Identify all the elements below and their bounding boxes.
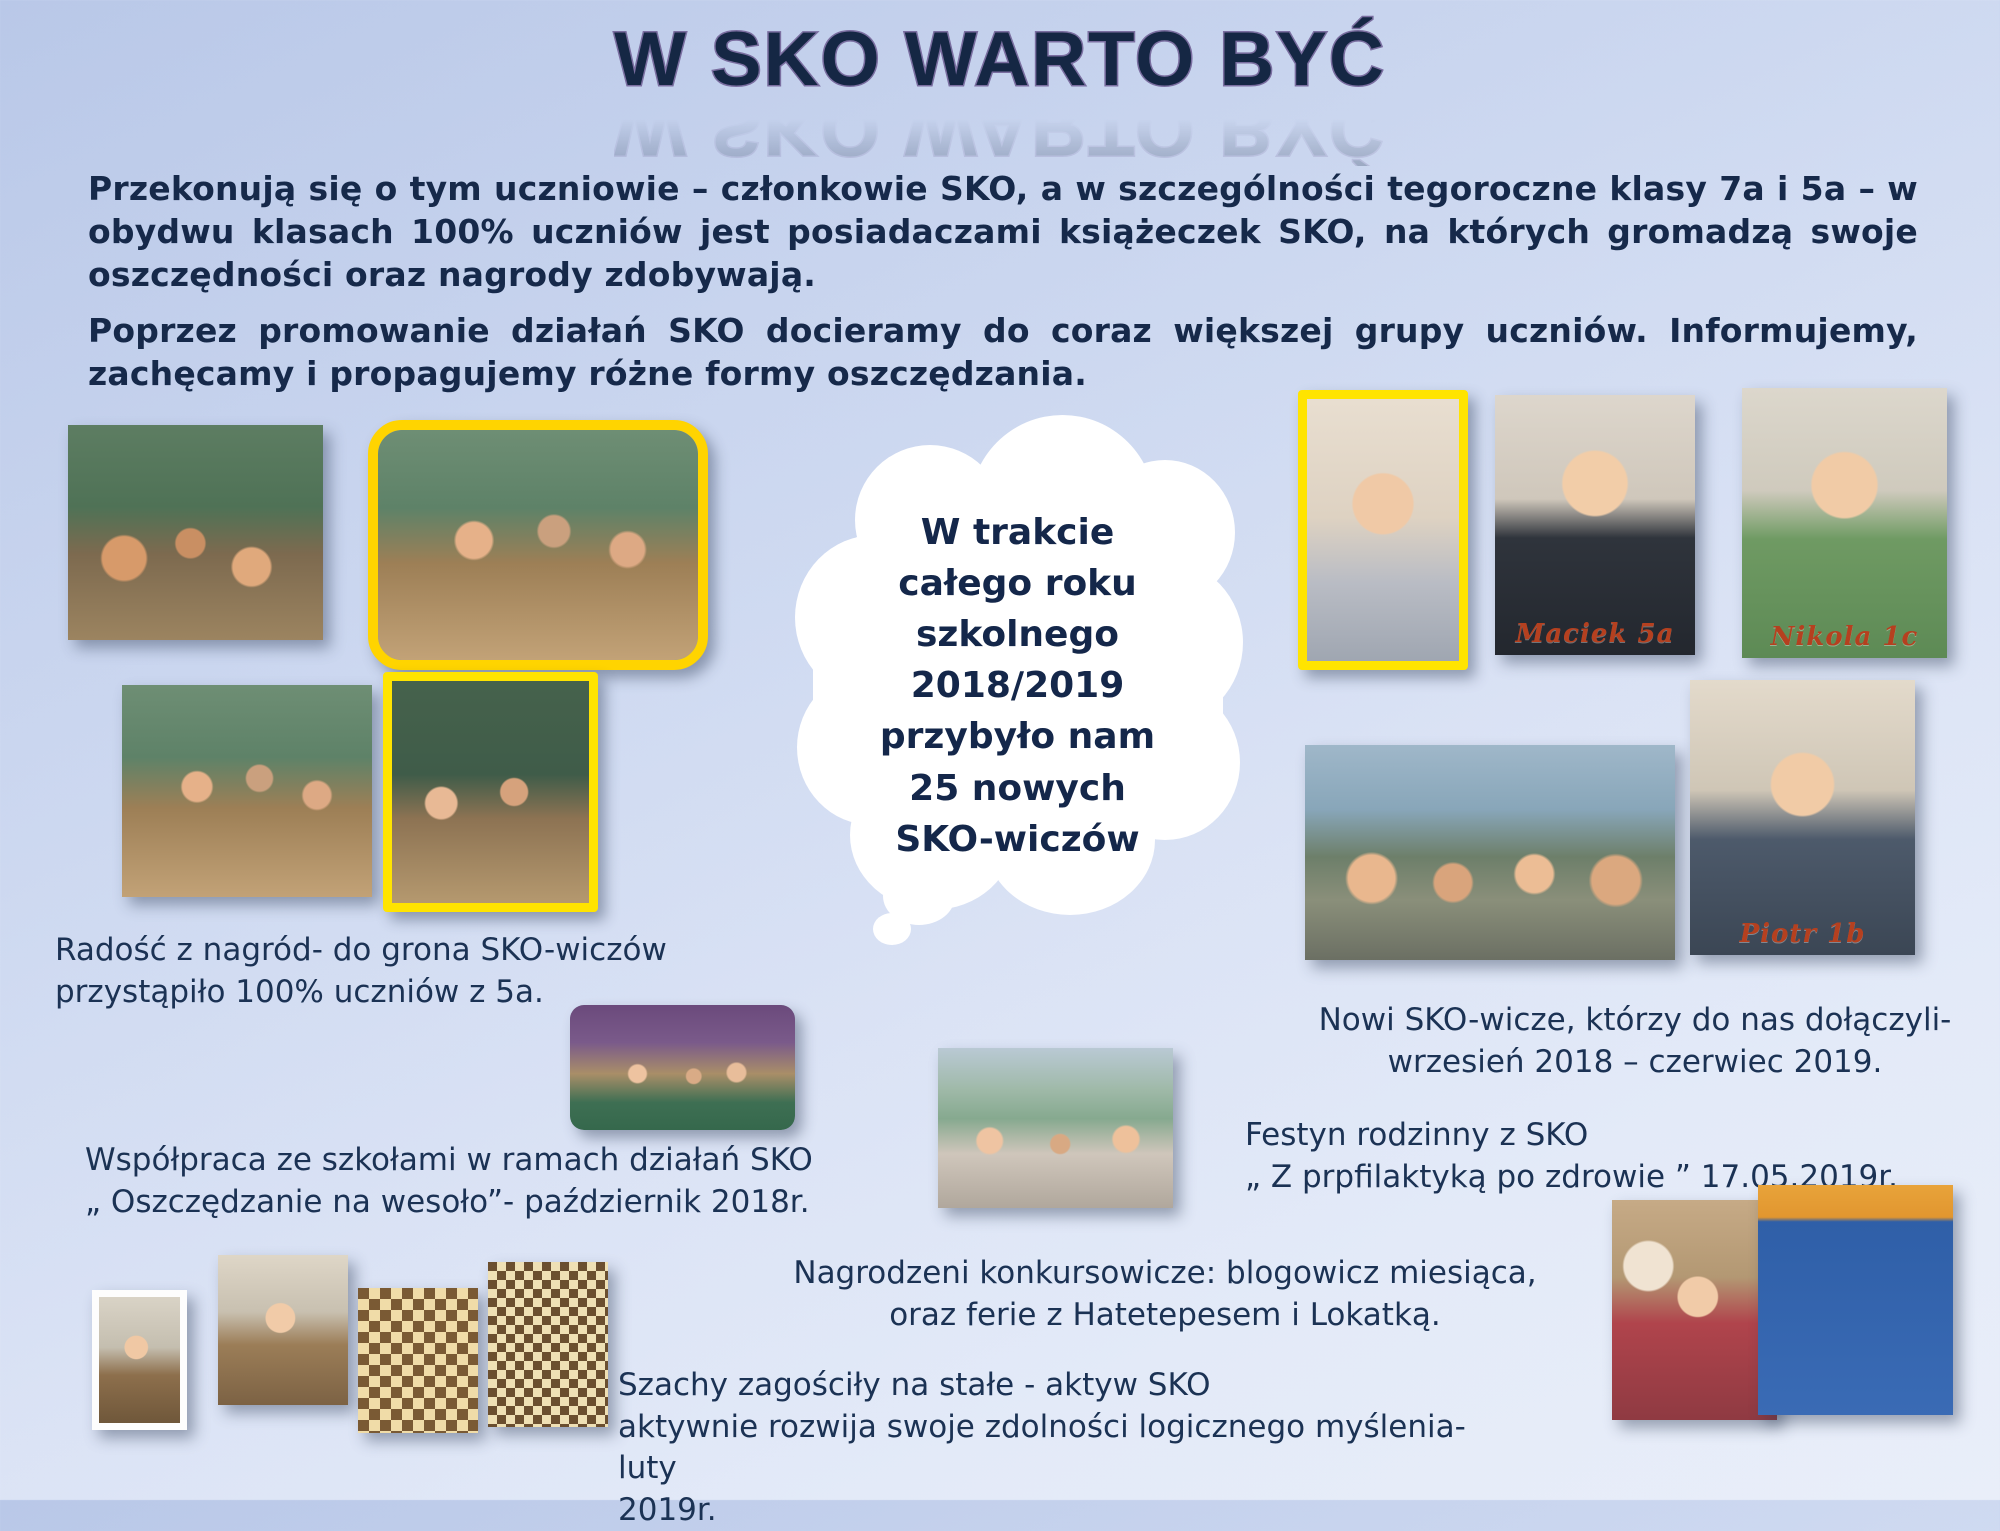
photo-content bbox=[570, 1005, 795, 1130]
photo-label-piotr: Piotr 1b bbox=[1690, 919, 1915, 949]
photo-label-maciek: Maciek 5a bbox=[1495, 619, 1695, 649]
photo-classroom-group-yellow-round bbox=[368, 420, 708, 670]
photo-content bbox=[68, 425, 323, 640]
page-title-text: W SKO WARTO BYĆ bbox=[614, 22, 1386, 98]
photo-nikola: Nikola 1c bbox=[1742, 388, 1947, 658]
photo-chess-board-2 bbox=[488, 1262, 608, 1427]
page-title: W SKO WARTO BYĆ bbox=[0, 22, 2000, 98]
photo-sko-notice-board bbox=[1758, 1185, 1953, 1415]
caption-nagrodzeni: Nagrodzeni konkursowicze: blogowicz mies… bbox=[770, 1253, 1560, 1336]
photo-content bbox=[1742, 388, 1947, 658]
photo-family-festival bbox=[938, 1048, 1173, 1208]
caption-radosc: Radość z nagród- do grona SKO-wiczów prz… bbox=[55, 930, 695, 1013]
page-title-reflection: W SKO WARTO BYĆ bbox=[0, 96, 2000, 166]
photo-maciek: Maciek 5a bbox=[1495, 395, 1695, 655]
photo-content bbox=[1758, 1185, 1953, 1415]
caption-szachy: Szachy zagościły na stałe - aktyw SKO ak… bbox=[618, 1365, 1518, 1531]
photo-school-hall-group bbox=[570, 1005, 795, 1130]
photo-content bbox=[1612, 1200, 1777, 1420]
photo-chess-board-1 bbox=[358, 1288, 478, 1433]
bubble-tail-small bbox=[873, 913, 911, 945]
photo-girl-with-diploma bbox=[1612, 1200, 1777, 1420]
speech-bubble: W trakcie całego roku szkolnego 2018/201… bbox=[795, 415, 1240, 935]
photo-piotr: Piotr 1b bbox=[1690, 680, 1915, 955]
photo-content bbox=[1305, 745, 1675, 960]
caption-nowi-sko-wicze: Nowi SKO-wicze, którzy do nas dołączyli-… bbox=[1255, 1000, 2000, 1083]
slide-canvas: W SKO WARTO BYĆ W SKO WARTO BYĆ Przekonu… bbox=[0, 0, 2000, 1500]
photo-content bbox=[218, 1255, 348, 1405]
photo-content bbox=[1307, 399, 1459, 661]
photo-content bbox=[122, 685, 372, 897]
intro-paragraph-2: Poprzez promowanie działań SKO docieramy… bbox=[88, 310, 1918, 396]
photo-chess-kid-1 bbox=[92, 1290, 187, 1430]
photo-pupils-prizes-yellow bbox=[383, 672, 598, 912]
caption-wspolpraca: Współpraca ze szkołami w ramach działań … bbox=[85, 1140, 865, 1223]
photo-chess-kid-2 bbox=[218, 1255, 348, 1405]
photo-content bbox=[1690, 680, 1915, 955]
photo-content bbox=[99, 1297, 180, 1423]
intro-paragraph-1: Przekonują się o tym uczniowie – członko… bbox=[88, 168, 1918, 297]
photo-label-nikola: Nikola 1c bbox=[1742, 622, 1947, 652]
photo-classroom-blackboard bbox=[68, 425, 323, 640]
photo-content bbox=[378, 430, 698, 660]
photo-content bbox=[358, 1288, 478, 1433]
photo-content bbox=[1495, 395, 1695, 655]
photo-kids-outdoor-group bbox=[1305, 745, 1675, 960]
bubble-text: W trakcie całego roku szkolnego 2018/201… bbox=[795, 507, 1240, 865]
photo-content bbox=[488, 1262, 608, 1427]
photo-girl-yellow-frame bbox=[1298, 390, 1468, 670]
photo-pupils-working bbox=[122, 685, 372, 897]
photo-content bbox=[392, 681, 589, 903]
photo-content bbox=[938, 1048, 1173, 1208]
